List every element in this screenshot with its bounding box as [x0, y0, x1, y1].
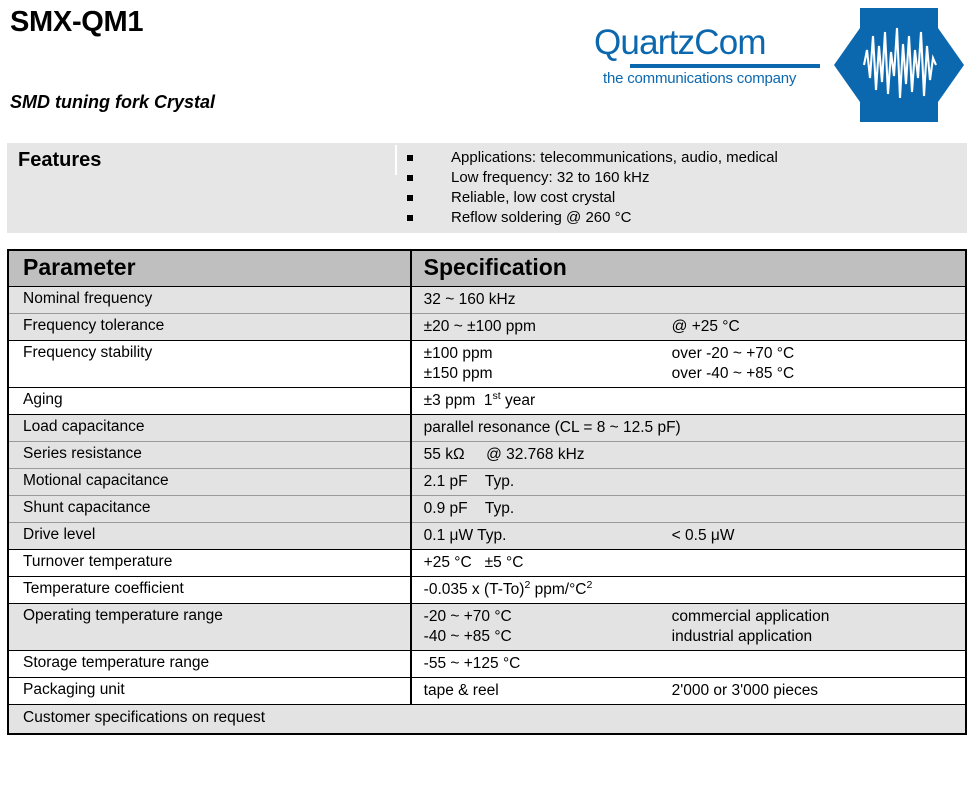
spec-lines: 0.9 pF Typ.	[424, 499, 965, 519]
specification-cell: 2.1 pF Typ.	[411, 469, 965, 496]
table-row: Series resistance55 kΩ @ 32.768 kHz	[9, 442, 965, 469]
parameter-cell: Series resistance	[9, 442, 411, 469]
spec-condition: industrial application	[672, 627, 812, 647]
specification-cell: ±100 ppmover -20 ~ +70 °C±150 ppmover -4…	[411, 341, 965, 388]
spec-lines: +25 °C ±5 °C	[424, 553, 965, 573]
column-header-parameter: Parameter	[9, 251, 411, 287]
page-header: SMX-QM1 SMD tuning fork Crystal QuartzCo…	[0, 0, 974, 140]
list-item: Low frequency: 32 to 160 kHz	[405, 168, 955, 188]
logo-company-name: QuartzCom	[594, 24, 822, 62]
parameter-cell: Storage temperature range	[9, 651, 411, 678]
list-item: Reliable, low cost crystal	[405, 188, 955, 208]
features-divider	[395, 145, 397, 175]
spec-lines: ±100 ppmover -20 ~ +70 °C±150 ppmover -4…	[424, 344, 965, 384]
table-header-row: Parameter Specification	[9, 251, 965, 287]
logo-wordmark: QuartzCom the communications company	[594, 24, 822, 62]
spec-lines: ±3 ppm 1st year	[424, 391, 965, 411]
spec-lines: parallel resonance (CL = 8 ~ 12.5 pF)	[424, 418, 965, 438]
parameter-cell: Frequency stability	[9, 341, 411, 388]
spec-lines: -0.035 x (T-To)2 ppm/°C2	[424, 580, 965, 600]
spec-lines: 0.1 μW Typ.< 0.5 μW	[424, 526, 965, 546]
table-row: Drive level0.1 μW Typ.< 0.5 μW	[9, 523, 965, 550]
spec-lines: 55 kΩ @ 32.768 kHz	[424, 445, 965, 465]
features-panel: Features Applications: telecommunication…	[7, 143, 967, 233]
spec-lines: -55 ~ +125 °C	[424, 654, 965, 674]
specification-cell: 0.9 pF Typ.	[411, 496, 965, 523]
spec-condition: commercial application	[672, 607, 830, 627]
spec-value: parallel resonance (CL = 8 ~ 12.5 pF)	[424, 418, 965, 438]
spec-value: 55 kΩ @ 32.768 kHz	[424, 445, 965, 465]
spec-value: -40 ~ +85 °Cindustrial application	[424, 627, 965, 647]
spec-value: 2.1 pF Typ.	[424, 472, 965, 492]
parameter-cell: Drive level	[9, 523, 411, 550]
specification-cell: -0.035 x (T-To)2 ppm/°C2	[411, 577, 965, 604]
features-label: Features	[18, 149, 101, 172]
parameter-cell: Temperature coefficient	[9, 577, 411, 604]
spec-value: 0.1 μW Typ.< 0.5 μW	[424, 526, 965, 546]
list-item: Reflow soldering @ 260 °C	[405, 208, 955, 228]
table-row: Load capacitanceparallel resonance (CL =…	[9, 415, 965, 442]
spec-lines: 32 ~ 160 kHz	[424, 290, 965, 310]
specification-cell: 0.1 μW Typ.< 0.5 μW	[411, 523, 965, 550]
parameter-cell: Shunt capacitance	[9, 496, 411, 523]
table-body: Nominal frequency32 ~ 160 kHzFrequency t…	[9, 287, 965, 734]
table-row: Motional capacitance2.1 pF Typ.	[9, 469, 965, 496]
table-row: Packaging unittape & reel2'000 or 3'000 …	[9, 678, 965, 705]
table-row: Temperature coefficient-0.035 x (T-To)2 …	[9, 577, 965, 604]
company-logo: QuartzCom the communications company	[594, 4, 966, 124]
spec-value: -55 ~ +125 °C	[424, 654, 965, 674]
parameter-cell: Motional capacitance	[9, 469, 411, 496]
specification-cell: +25 °C ±5 °C	[411, 550, 965, 577]
spec-value: 32 ~ 160 kHz	[424, 290, 965, 310]
specification-cell: ±20 ~ ±100 ppm@ +25 °C	[411, 314, 965, 341]
spec-condition: over -20 ~ +70 °C	[672, 344, 795, 364]
product-subtitle: SMD tuning fork Crystal	[10, 92, 215, 113]
spec-value: tape & reel2'000 or 3'000 pieces	[424, 681, 965, 701]
parameter-cell: Turnover temperature	[9, 550, 411, 577]
table-row: Aging±3 ppm 1st year	[9, 388, 965, 415]
square-bullet-icon	[407, 175, 413, 181]
logo-tagline: the communications company	[603, 70, 796, 87]
specification-cell: -20 ~ +70 °Ccommercial application-40 ~ …	[411, 604, 965, 651]
spec-lines: 2.1 pF Typ.	[424, 472, 965, 492]
table-row: Storage temperature range-55 ~ +125 °C	[9, 651, 965, 678]
spec-value: ±20 ~ ±100 ppm@ +25 °C	[424, 317, 965, 337]
parameter-cell: Nominal frequency	[9, 287, 411, 314]
table-footer-row: Customer specifications on request	[9, 705, 965, 734]
logo-underline-rule	[630, 64, 820, 68]
specification-cell: -55 ~ +125 °C	[411, 651, 965, 678]
specification-table: Parameter Specification Nominal frequenc…	[7, 249, 967, 735]
page-title: SMX-QM1	[10, 6, 143, 39]
table-row: Shunt capacitance0.9 pF Typ.	[9, 496, 965, 523]
spec-condition: 2'000 or 3'000 pieces	[672, 681, 818, 701]
waveform-arrow-icon	[834, 6, 964, 124]
spec-condition: < 0.5 μW	[672, 526, 735, 546]
table-row: Turnover temperature+25 °C ±5 °C	[9, 550, 965, 577]
spec-value: ±3 ppm 1st year	[424, 391, 965, 411]
spec-lines: tape & reel2'000 or 3'000 pieces	[424, 681, 965, 701]
feature-text: Low frequency: 32 to 160 kHz	[451, 169, 649, 186]
feature-text: Reliable, low cost crystal	[451, 189, 615, 206]
square-bullet-icon	[407, 215, 413, 221]
spec-value: ±100 ppmover -20 ~ +70 °C	[424, 344, 965, 364]
spec-condition: over -40 ~ +85 °C	[672, 364, 795, 384]
spec-lines: ±20 ~ ±100 ppm@ +25 °C	[424, 317, 965, 337]
parameter-cell: Operating temperature range	[9, 604, 411, 651]
specification-cell: tape & reel2'000 or 3'000 pieces	[411, 678, 965, 705]
parameter-cell: Aging	[9, 388, 411, 415]
square-bullet-icon	[407, 155, 413, 161]
list-item: Applications: telecommunications, audio,…	[405, 148, 955, 168]
specification-cell: ±3 ppm 1st year	[411, 388, 965, 415]
feature-text: Applications: telecommunications, audio,…	[451, 149, 778, 166]
square-bullet-icon	[407, 195, 413, 201]
customer-specifications-note: Customer specifications on request	[9, 705, 965, 734]
spec-value: -0.035 x (T-To)2 ppm/°C2	[424, 580, 965, 600]
features-list: Applications: telecommunications, audio,…	[405, 148, 955, 228]
table-row: Frequency stability±100 ppmover -20 ~ +7…	[9, 341, 965, 388]
spec-value: -20 ~ +70 °Ccommercial application	[424, 607, 965, 627]
feature-text: Reflow soldering @ 260 °C	[451, 209, 631, 226]
spec-value: ±150 ppmover -40 ~ +85 °C	[424, 364, 965, 384]
spec-condition: @ +25 °C	[672, 317, 740, 337]
parameter-cell: Packaging unit	[9, 678, 411, 705]
table-row: Operating temperature range-20 ~ +70 °Cc…	[9, 604, 965, 651]
parameter-cell: Frequency tolerance	[9, 314, 411, 341]
specification-cell: 32 ~ 160 kHz	[411, 287, 965, 314]
spec-value: 0.9 pF Typ.	[424, 499, 965, 519]
specification-cell: 55 kΩ @ 32.768 kHz	[411, 442, 965, 469]
column-header-specification: Specification	[411, 251, 965, 287]
spec-lines: -20 ~ +70 °Ccommercial application-40 ~ …	[424, 607, 965, 647]
spec-value: +25 °C ±5 °C	[424, 553, 965, 573]
specification-cell: parallel resonance (CL = 8 ~ 12.5 pF)	[411, 415, 965, 442]
parameter-cell: Load capacitance	[9, 415, 411, 442]
table-row: Frequency tolerance±20 ~ ±100 ppm@ +25 °…	[9, 314, 965, 341]
table-row: Nominal frequency32 ~ 160 kHz	[9, 287, 965, 314]
